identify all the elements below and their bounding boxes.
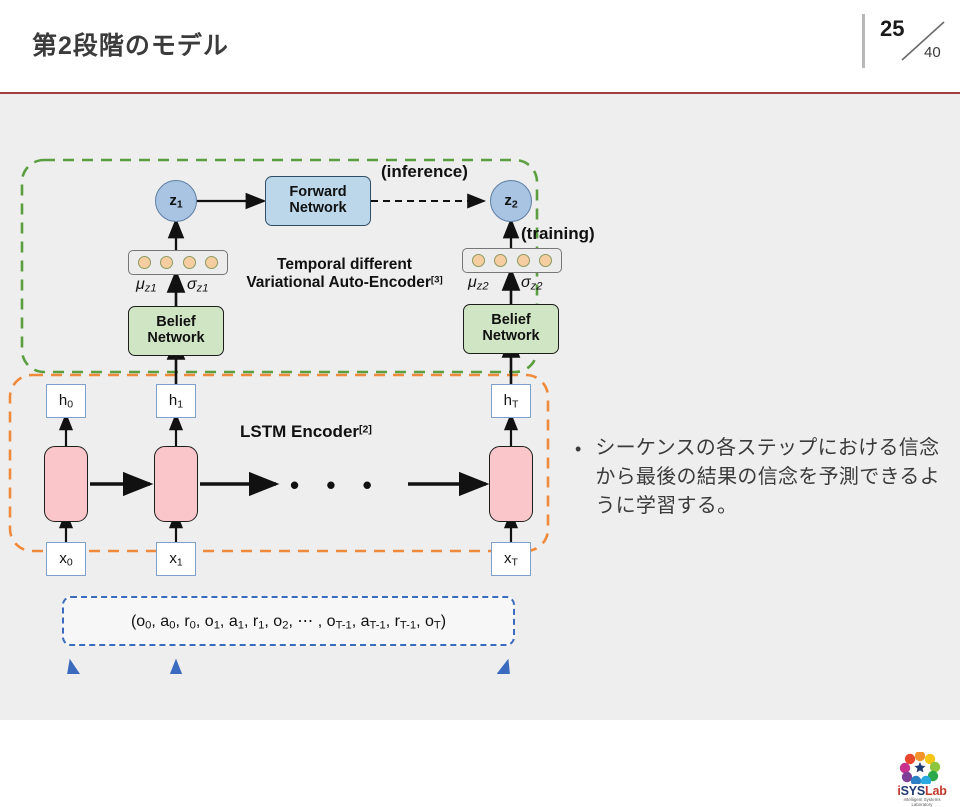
hidden-state-box-hT: hT: [491, 384, 531, 418]
latent-unit-icon: [539, 254, 552, 267]
bullet-marker: •: [575, 434, 581, 521]
isyslab-logo: iSYSLab Intelligent Systems Laboratory: [893, 752, 951, 806]
latent-node-z2: z2: [490, 180, 532, 222]
input-box-x0: x0: [46, 542, 86, 576]
latent-unit-icon: [472, 254, 485, 267]
belief-network-left-box: Belief Network: [128, 306, 224, 356]
training-edge-label: (training): [521, 224, 595, 244]
lstm-cell: [44, 446, 88, 522]
slide-body: z1 Forward Network (inference) z2 (train…: [0, 94, 960, 720]
isyslab-gear-icon: [893, 752, 951, 784]
input-box-xT: xT: [491, 542, 531, 576]
lstm-ellipsis: • • •: [290, 470, 382, 501]
hidden-state-box-h0: h0: [46, 384, 86, 418]
architecture-diagram: z1 Forward Network (inference) z2 (train…: [0, 94, 580, 674]
inference-edge-label: (inference): [381, 162, 468, 182]
sequence-tuple-box: (o0, a0, r0, o1, a1, r1, o2, ⋯ , oT-1, a…: [62, 596, 515, 646]
sigma-label-right: σz2: [521, 274, 542, 292]
isyslab-tagline: Intelligent Systems Laboratory: [893, 797, 951, 807]
sigma-label-left: σz1: [187, 276, 208, 294]
forward-network-box: Forward Network: [265, 176, 371, 226]
latent-unit-icon: [183, 256, 196, 269]
latent-unit-icon: [517, 254, 530, 267]
bullet-block: • シーケンスの各ステップにおける信念から最後の結果の信念を予測できるように学習…: [575, 434, 950, 521]
latent-units-left: [128, 250, 228, 275]
page-title: 第2段階のモデル: [32, 26, 229, 62]
latent-unit-icon: [160, 256, 173, 269]
page-number-total: 40: [924, 44, 941, 61]
sequence-tuple-text: (o0, a0, r0, o1, a1, r1, o2, ⋯ , oT-1, a…: [131, 611, 446, 631]
lstm-cell: [489, 446, 533, 522]
slide-header: 第2段階のモデル 25 40: [0, 0, 960, 94]
latent-unit-icon: [205, 256, 218, 269]
lstm-group-label: LSTM Encoder[2]: [240, 422, 372, 442]
input-box-x1: x1: [156, 542, 196, 576]
latent-units-right: [462, 248, 562, 273]
mu-label-right: μz2: [468, 274, 489, 292]
latent-unit-icon: [494, 254, 507, 267]
mu-label-left: μz1: [136, 276, 157, 294]
bullet-text: シーケンスの各ステップにおける信念から最後の結果の信念を予測できるように学習する…: [595, 434, 950, 521]
belief-network-right-box: Belief Network: [463, 304, 559, 354]
header-divider: [862, 14, 865, 68]
vae-group-label: Temporal different Variational Auto-Enco…: [232, 256, 457, 292]
latent-node-z1: z1: [155, 180, 197, 222]
latent-unit-icon: [138, 256, 151, 269]
isyslab-wordmark: iSYSLab: [893, 784, 951, 798]
lstm-group-frame: [10, 375, 548, 551]
lstm-cell: [154, 446, 198, 522]
hidden-state-box-h1: h1: [156, 384, 196, 418]
